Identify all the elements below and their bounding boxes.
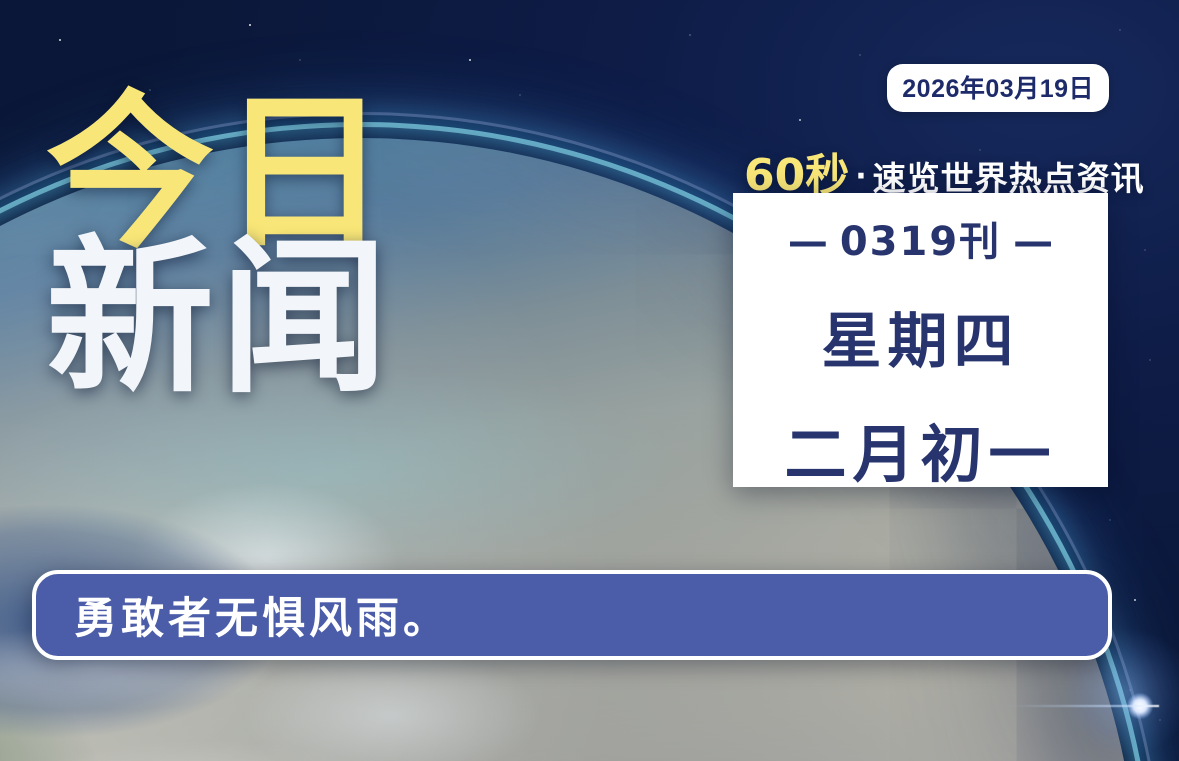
news-poster: 今日 新闻 2026年03月19日 60秒·速览世界热点资讯 —0319刊— 星… <box>0 0 1179 761</box>
lens-flare-star-icon <box>1127 693 1153 719</box>
page-title-line2: 新闻 <box>46 241 394 396</box>
page-title: 今日 新闻 <box>46 96 394 395</box>
issue-card: —0319刊— 星期四 二月初一 <box>733 193 1108 487</box>
lunar-date-label: 二月初一 <box>784 404 1056 494</box>
quote-banner: 勇敢者无惧风雨。 <box>32 570 1112 660</box>
tagline-separator: · <box>849 159 872 194</box>
issue-number: 0319刊 <box>840 219 1001 265</box>
date-badge: 2026年03月19日 <box>887 64 1109 112</box>
weekday-label: 星期四 <box>822 293 1020 380</box>
issue-line: —0319刊— <box>776 209 1065 267</box>
issue-dash-right: — <box>1001 219 1065 265</box>
quote-banner-text: 勇敢者无惧风雨。 <box>74 584 450 646</box>
issue-dash-left: — <box>776 219 840 265</box>
